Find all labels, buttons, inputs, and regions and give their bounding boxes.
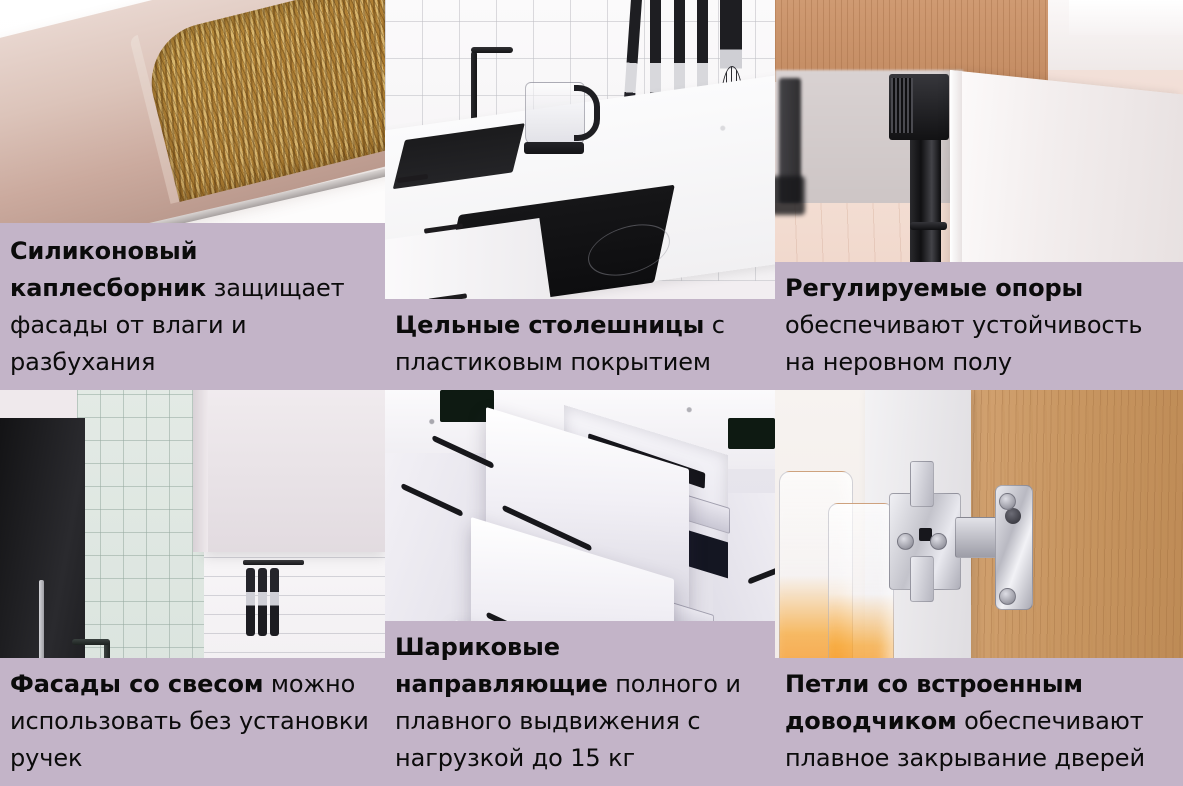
caption-bold-text: Шариковые направляющие — [395, 633, 608, 698]
caption-bold-text: Фасады со свесом — [10, 670, 263, 698]
card-caption: Шариковые направляющие полного и плавног… — [385, 621, 775, 786]
card-caption: Регулируемые опоры обеспечивают устойчив… — [775, 262, 1183, 390]
caption-bold-text: Силиконовый каплесборник — [10, 237, 206, 302]
card-caption: Петли со встроенным доводчиком обеспечив… — [775, 658, 1183, 786]
card-caption: Фасады со свесом можно использовать без … — [0, 658, 385, 786]
feature-card-adjustable-legs[interactable]: Регулируемые опоры обеспечивают устойчив… — [775, 0, 1183, 390]
feature-card-overhang-fronts[interactable]: Фасады со свесом можно использовать без … — [0, 390, 385, 786]
feature-grid: Силиконовый каплесборник защищает фасады… — [0, 0, 1183, 786]
caption-bold-text: Цельные столешницы — [395, 311, 704, 339]
feature-card-solid-countertops[interactable]: Цельные столешницы с пластиковым покрыти… — [385, 0, 775, 390]
card-caption: Цельные столешницы с пластиковым покрыти… — [385, 299, 775, 390]
caption-rest-text: обеспечивают устойчивость на неровном по… — [785, 311, 1142, 376]
card-caption: Силиконовый каплесборник защищает фасады… — [0, 223, 385, 390]
caption-bold-text: Регулируемые опоры — [785, 274, 1083, 302]
feature-card-ball-bearing-slides[interactable]: Шариковые направляющие полного и плавног… — [385, 390, 775, 786]
feature-card-soft-close-hinges[interactable]: Петли со встроенным доводчиком обеспечив… — [775, 390, 1183, 786]
feature-card-silicone-drip-catcher[interactable]: Силиконовый каплесборник защищает фасады… — [0, 0, 385, 390]
